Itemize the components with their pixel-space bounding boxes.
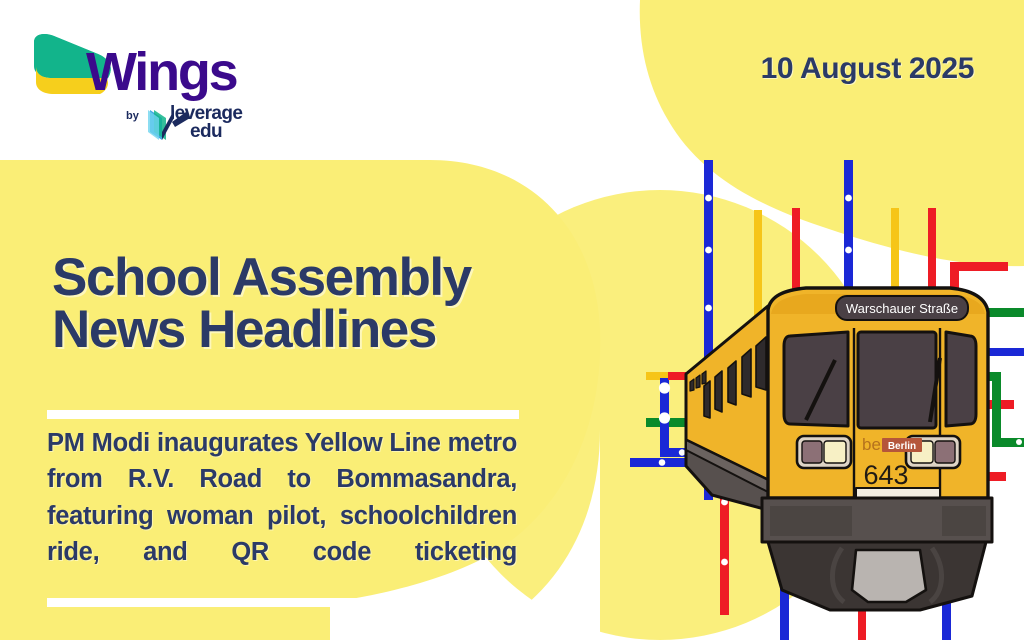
page-title: School Assembly News Headlines: [52, 252, 552, 357]
train-brand-be: be: [862, 435, 881, 454]
page-title-line-1: School Assembly: [52, 252, 552, 304]
logo-by-label: by: [126, 110, 140, 122]
train-skirt-shadow-left: [770, 506, 852, 536]
train-windscreen-left: [784, 332, 848, 426]
logo-wordmark: Wings: [86, 42, 237, 102]
destination-sign-text: Warschauer Straße: [846, 301, 958, 316]
train-car-number: 643: [863, 460, 908, 490]
train-headlight-left: [797, 436, 851, 468]
train-door-window: [858, 332, 936, 428]
wings-leverage-edu-logo[interactable]: Wings by leverage edu: [22, 22, 252, 142]
train-skirt-shadow-right: [942, 506, 986, 536]
logo-brand-line2: edu: [190, 121, 222, 142]
ubahn-train: Warschauer Straße: [686, 288, 992, 610]
divider-top: [47, 410, 519, 419]
train-windscreen-right: [946, 332, 976, 426]
date-label: 10 August 2025: [761, 52, 974, 86]
page-title-line-2: News Headlines: [52, 304, 552, 356]
poster-canvas: Wings by leverage edu 10 August 2025 Sch…: [0, 0, 1024, 640]
divider-bottom: [47, 598, 519, 607]
train-illustration: Warschauer Straße: [620, 150, 1024, 640]
subheadline-text: PM Modi inaugurates Yellow Line metro fr…: [47, 425, 517, 607]
destination-sign: Warschauer Straße: [836, 296, 968, 320]
train-coupler: [852, 550, 926, 602]
train-brand-berlin: Berlin: [888, 441, 916, 452]
